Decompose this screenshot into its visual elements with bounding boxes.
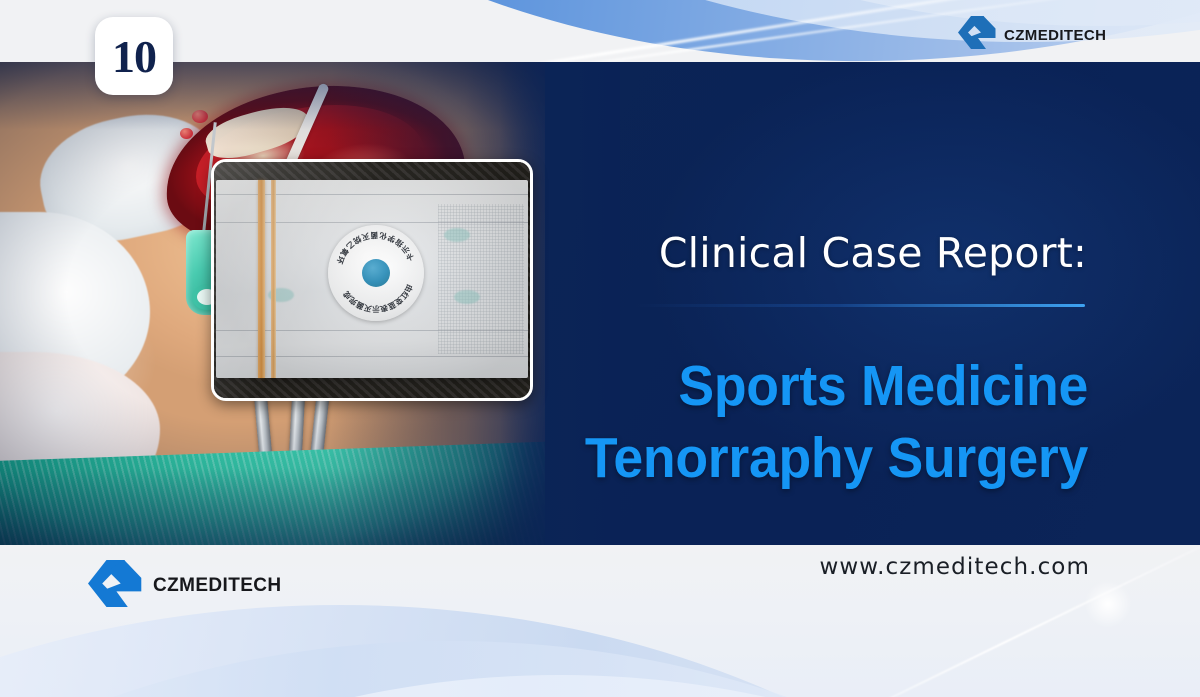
kicker-clinical-case-report: Clinical Case Report: <box>637 229 1087 277</box>
slide-canvas: 环氧乙烷灭菌化学指示卡 由红变蓝表示灭菌完成 Clinical Case Rep… <box>0 0 1200 697</box>
website-url[interactable]: www.czmeditech.com <box>660 554 1090 580</box>
headline-line-1: Sports Medicine <box>479 350 1088 422</box>
indicator-dot <box>444 228 470 242</box>
pouch-mesh-texture <box>438 204 524 354</box>
headline-title: Sports Medicine Tenorraphy Surgery <box>479 350 1088 495</box>
brand-wordmark: CZMEDITECH <box>1004 27 1106 44</box>
brand-wordmark: CZMEDITECH <box>153 575 282 597</box>
brand-logo-bottom[interactable]: CZMEDITECH <box>88 560 282 612</box>
czmeditech-logo-icon <box>88 560 142 612</box>
brand-logo-top[interactable]: CZMEDITECH <box>958 16 1106 54</box>
bottom-light-spot <box>1085 581 1131 627</box>
headline-line-2: Tenorraphy Surgery <box>479 422 1088 494</box>
title-divider-rule <box>635 304 1085 307</box>
orange-ribbon-tie <box>258 180 265 378</box>
chemical-indicator-disc: 环氧乙烷灭菌化学指示卡 由红变蓝表示灭菌完成 <box>328 225 424 321</box>
czmeditech-logo-icon <box>958 16 996 54</box>
main-stage: 环氧乙烷灭菌化学指示卡 由红变蓝表示灭菌完成 Clinical Case Rep… <box>0 62 1200 545</box>
slide-number-badge: 10 <box>95 17 173 95</box>
indicator-center-dot <box>362 259 390 287</box>
orange-ribbon-tie-2 <box>271 180 276 378</box>
indicator-dot <box>454 290 480 304</box>
slide-number: 10 <box>112 30 156 83</box>
